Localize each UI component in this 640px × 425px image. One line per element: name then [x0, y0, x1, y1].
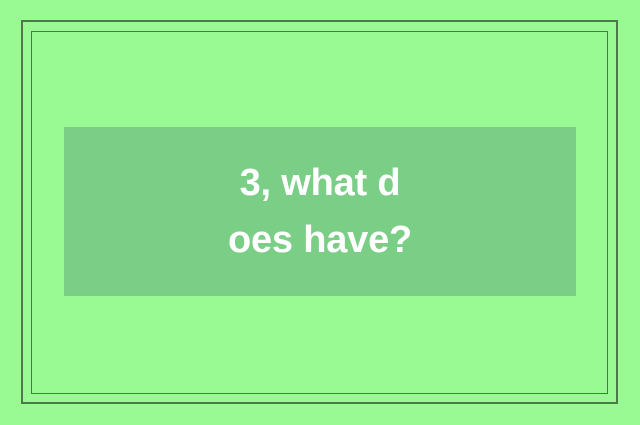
text-panel: 3, what d oes have? — [64, 127, 576, 296]
message-line-2: oes have? — [228, 212, 412, 269]
slide-canvas: 3, what d oes have? — [0, 0, 640, 425]
message-line-1: 3, what d — [240, 155, 401, 212]
